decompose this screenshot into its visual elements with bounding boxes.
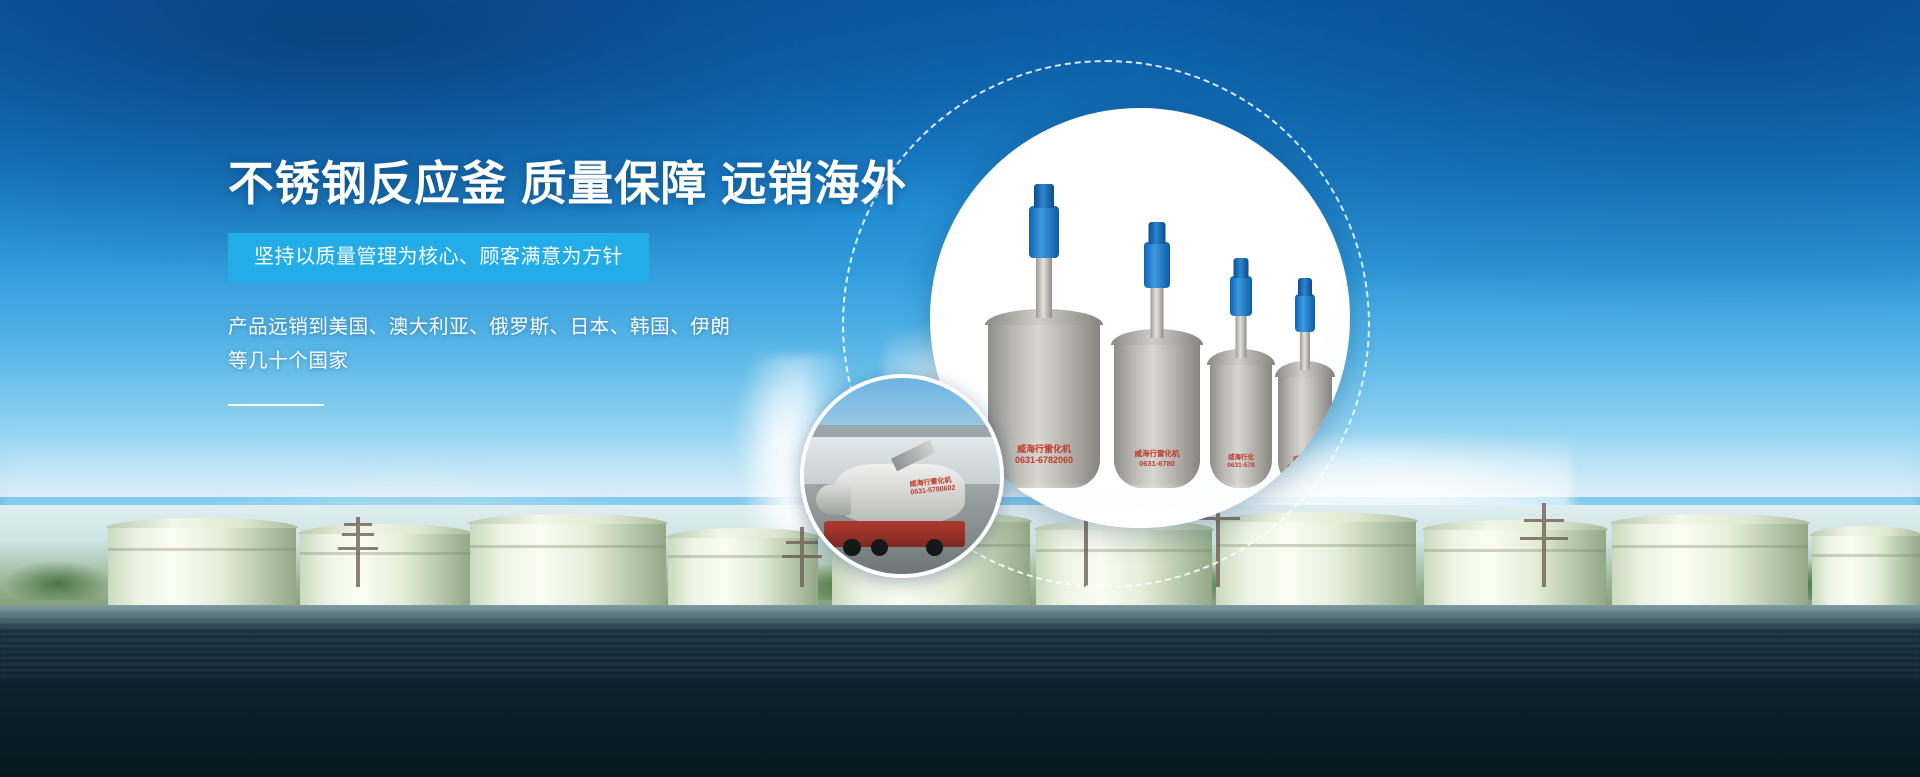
hero-banner: 威海行雷化机 0631-6782060 威海行雷化机 0631-6780 威海行… [0,0,1920,777]
vessel-label-line1: 威海行化 [1287,457,1322,465]
banner-paragraph-line1: 产品远销到美国、澳大利亚、俄罗斯、日本、韩国、伊朗 [228,310,868,344]
vessel-label-line1: 威海行化 [1227,454,1254,462]
vessel-motor [1144,242,1170,288]
vessel-shaft [1151,286,1164,338]
storage-tank [1424,527,1606,607]
reactor-vessel: 威海行化 0631-578060 [1278,370,1332,488]
vessel-motor [1029,206,1059,258]
vessel-label-line2: 0631-6782060 [1015,455,1073,466]
inset-truck-wheel [843,539,861,557]
storage-tank [1812,533,1920,607]
banner-slogan-ribbon: 坚持以质量管理为核心、顾客满意为方针 [228,233,649,282]
factory-photo-circle: 威海行雷化机 0631-5780602 [800,374,1004,578]
vessel-label-line2: 0631-578060 [1287,465,1322,473]
vessel-shaft [1300,330,1310,370]
vessel-label-line2: 0631-6780 [1135,459,1180,468]
banner-copy: 不锈钢反应釜 质量保障 远销海外 坚持以质量管理为核心、顾客满意为方针 产品远销… [228,158,868,406]
banner-headline: 不锈钢反应釜 质量保障 远销海外 [228,158,849,211]
storage-tank [300,531,470,607]
water-reflection [0,609,1920,679]
vessel-label: 威海行雷化机 0631-6782060 [1015,444,1073,467]
vessel-motor-top [1234,258,1249,278]
water-foreground [0,605,1920,777]
vessel-motor-top [1034,184,1054,208]
vessel-label: 威海行化 0631-578060 [1287,457,1322,472]
vessel-label: 威海行化 0631-578 [1227,454,1254,470]
storage-tank [470,521,666,607]
decorative-divider [228,404,324,406]
banner-paragraph-line2: 等几十个国家 [228,344,868,378]
vessel-label-line1: 威海行雷化机 [1135,449,1180,458]
vessel-label-line2: 0631-578 [1227,462,1254,470]
power-pylon [336,517,380,587]
vessel-motor [1295,294,1315,332]
inset-tank-nose [816,484,851,515]
vessel-shaft [1236,314,1247,358]
vessel-motor-top [1298,278,1312,296]
vessel-label-line1: 威海行雷化机 [1015,444,1073,455]
storage-tank [1612,521,1808,607]
reactor-vessel: 威海行化 0631-578 [1210,358,1272,488]
reactor-vessel: 威海行雷化机 0631-6782060 [988,318,1100,488]
vessel-shaft [1036,256,1052,318]
vessel-motor [1230,276,1252,316]
reactor-vessel: 威海行雷化机 0631-6780 [1114,338,1200,488]
power-pylon [1520,503,1568,587]
inset-building-roof [804,425,1000,437]
storage-tank [108,525,296,607]
vessel-motor-top [1149,222,1166,244]
vessel-label: 威海行雷化机 0631-6780 [1135,449,1180,468]
